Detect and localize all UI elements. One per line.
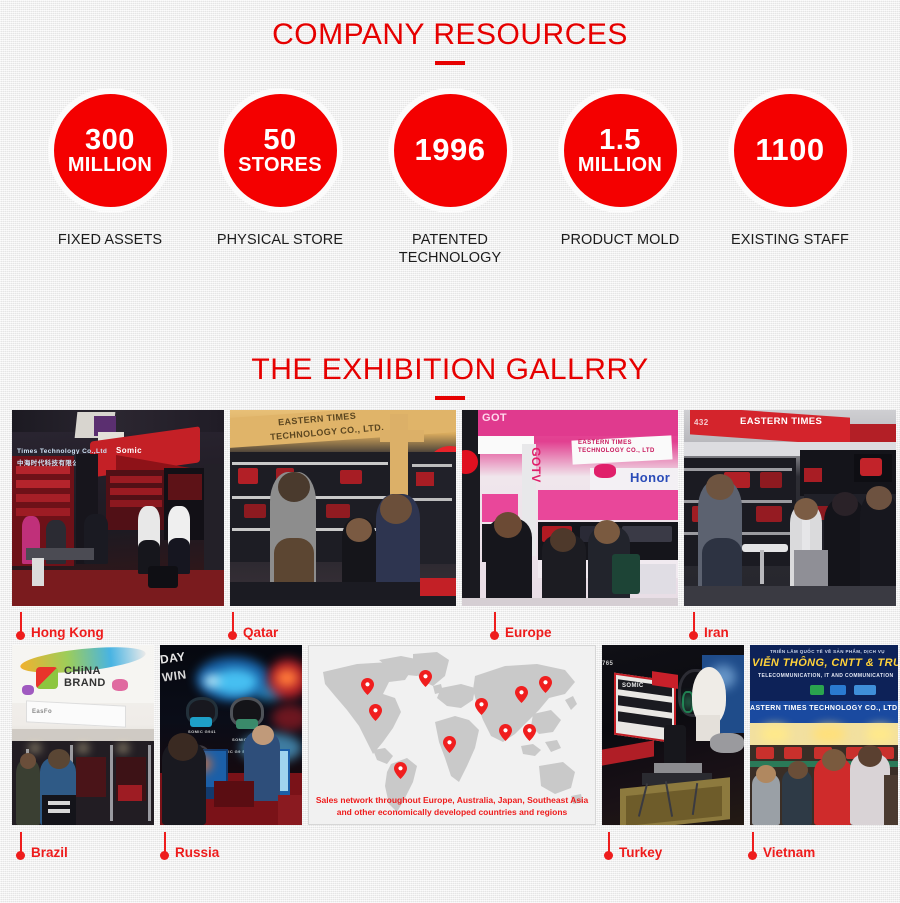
stat-value-primary: 50 (263, 125, 296, 156)
map-pin-icon (160, 832, 169, 860)
photo-white-booth: CHiNA BRAND EasFo (12, 645, 154, 825)
stat-label: PHYSICAL STORE (200, 231, 360, 249)
map-pin-icon (499, 724, 512, 741)
stats-row: 300 MILLION FIXED ASSETS 50 STORES PHYSI… (30, 88, 870, 267)
title-underline-rule (435, 396, 465, 400)
caption-text: Russia (175, 846, 219, 860)
company-resources-title: COMPANY RESOURCES (0, 20, 900, 50)
caption-text: Turkey (619, 846, 662, 860)
map-pin-icon (394, 762, 407, 779)
caption-hong-kong: Hong Kong (16, 606, 104, 640)
stat-product-mold: 1.5 MILLION PRODUCT MOLD (540, 88, 700, 249)
map-pin-icon (539, 676, 552, 693)
stat-value-primary: 300 (85, 125, 135, 156)
map-note-line-1: Sales network throughout Europe, Austral… (313, 795, 591, 806)
photo-tan-booth: EASTERN TIMES TECHNOLOGY CO., LTD. C (230, 410, 456, 606)
stat-value-primary: 1996 (415, 134, 486, 167)
photo-dark-gaming-dragon: DAY WIN SOMIC G941 SOMIC G936 SOMIC G9 S… (160, 645, 302, 825)
stat-physical-store: 50 STORES PHYSICAL STORE (200, 88, 360, 249)
map-pin-icon (16, 612, 25, 640)
map-note-line-2: and other economically developed countri… (313, 807, 591, 818)
map-pin-icon (369, 704, 382, 721)
stat-value-primary: 1.5 (599, 125, 641, 156)
photo-red-banner-booth: 432 EASTERN TIMES (684, 410, 896, 606)
stat-value-secondary: MILLION (578, 155, 662, 176)
caption-text: Brazil (31, 846, 68, 860)
gallery-tile-qatar[interactable]: EASTERN TIMES TECHNOLOGY CO., LTD. C (230, 410, 456, 606)
stat-value-secondary: STORES (238, 155, 322, 176)
title-underline-rule (435, 61, 465, 65)
photo-dark-booth-red: Somic Times Technology Co.,Ltd 中海时代科技有限公… (12, 410, 224, 606)
stat-existing-staff: 1100 EXISTING STAFF (710, 88, 870, 249)
gallery-tile-brazil[interactable]: CHiNA BRAND EasFo (12, 645, 154, 825)
map-pin-icon (16, 832, 25, 860)
caption-text: Vietnam (763, 846, 815, 860)
map-pin-icon (748, 832, 757, 860)
caption-text: Europe (505, 626, 552, 640)
map-pin-icon (515, 686, 528, 703)
gallery-tile-hong-kong[interactable]: Somic Times Technology Co.,Ltd 中海时代科技有限公… (12, 410, 224, 606)
gallery-tile-europe[interactable]: GOT EASTERN TIMES TECHNOLOGY CO., LTD GO… (462, 410, 678, 606)
map-pin-icon (228, 612, 237, 640)
caption-europe: Europe (490, 606, 552, 640)
gallery-tile-vietnam[interactable]: TRIỂN LÃM QUỐC TẾ VỀ SẢN PHẨM, DỊCH VỤ V… (750, 645, 898, 825)
gallery-tile-turkey[interactable]: 765 SOMIC (602, 645, 744, 825)
stat-patented-technology: 1996 PATENTED TECHNOLOGY (370, 88, 530, 267)
caption-qatar: Qatar (228, 606, 278, 640)
stat-circle: 1100 (728, 88, 853, 213)
gallery-row-1: Somic Times Technology Co.,Ltd 中海时代科技有限公… (12, 410, 896, 606)
photo-headset-mannequin: 765 SOMIC (602, 645, 744, 825)
stat-circle: 300 MILLION (48, 88, 173, 213)
gallery-tile-iran[interactable]: 432 EASTERN TIMES (684, 410, 896, 606)
world-map-tile[interactable]: Sales network throughout Europe, Austral… (308, 645, 596, 825)
caption-turkey: Turkey (604, 826, 662, 860)
stat-label: EXISTING STAFF (710, 231, 870, 249)
stat-circle: 1996 (388, 88, 513, 213)
map-pin-icon (604, 832, 613, 860)
stat-fixed-assets: 300 MILLION FIXED ASSETS (30, 88, 190, 249)
exhibition-gallery-title: THE EXHIBITION GALLRRY (0, 355, 900, 385)
caption-text: Qatar (243, 626, 278, 640)
company-resources-heading: COMPANY RESOURCES (0, 20, 900, 65)
map-pin-icon (475, 698, 488, 715)
map-pin-icon (419, 670, 432, 687)
stat-value-primary: 1100 (755, 134, 824, 167)
map-pin-icon (490, 612, 499, 640)
map-sales-network-note: Sales network throughout Europe, Austral… (313, 795, 591, 818)
gallery-row-2: CHiNA BRAND EasFo (12, 645, 898, 825)
map-pin-icon (689, 612, 698, 640)
stat-label: PATENTED TECHNOLOGY (370, 231, 530, 267)
stat-value-secondary: MILLION (68, 155, 152, 176)
stat-circle: 50 STORES (218, 88, 343, 213)
caption-iran: Iran (689, 606, 729, 640)
caption-text: Hong Kong (31, 626, 104, 640)
stat-label: FIXED ASSETS (30, 231, 190, 249)
gallery-tile-russia[interactable]: DAY WIN SOMIC G941 SOMIC G936 SOMIC G9 S… (160, 645, 302, 825)
caption-vietnam: Vietnam (748, 826, 815, 860)
map-pin-icon (443, 736, 456, 753)
map-pin-icon (523, 724, 536, 741)
company-resources-page: COMPANY RESOURCES 300 MILLION FIXED ASSE… (0, 0, 900, 903)
exhibition-gallery-heading: THE EXHIBITION GALLRRY (0, 355, 900, 400)
stat-circle: 1.5 MILLION (558, 88, 683, 213)
map-pin-icon (361, 678, 374, 695)
caption-russia: Russia (160, 826, 219, 860)
caption-brazil: Brazil (16, 826, 68, 860)
photo-pink-booth: GOT EASTERN TIMES TECHNOLOGY CO., LTD GO… (462, 410, 678, 606)
photo-blue-banner-booth: TRIỂN LÃM QUỐC TẾ VỀ SẢN PHẨM, DỊCH VỤ V… (750, 645, 898, 825)
stat-label: PRODUCT MOLD (540, 231, 700, 249)
caption-text: Iran (704, 626, 729, 640)
